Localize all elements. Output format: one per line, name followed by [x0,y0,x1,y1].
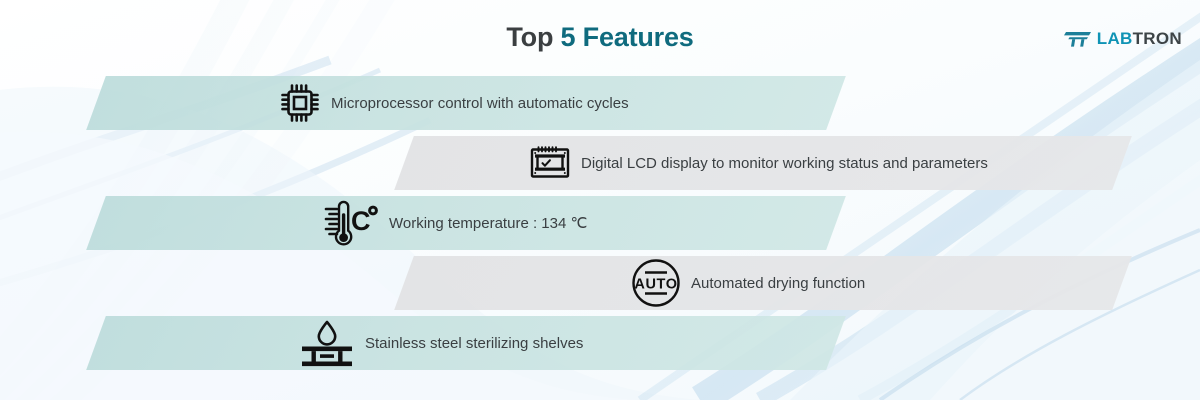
page-title-prefix: Top [506,22,560,52]
feature-label-3: Working temperature : 134 ℃ [389,216,587,231]
page-title: Top 5 Features [0,22,1200,53]
svg-text:AUTO: AUTO [634,277,677,293]
feature-content-2: Digital LCD display to monitor working s… [528,136,988,190]
thermometer-celsius-icon: C [318,197,380,249]
labtron-tt-mark-icon [1064,28,1092,48]
page-title-highlight: 5 Features [561,22,694,52]
lcd-display-icon [528,143,572,183]
infographic-canvas: Top 5 Features LABTRON [0,0,1200,400]
feature-label-2: Digital LCD display to monitor working s… [581,156,988,171]
steel-shelf-droplet-icon [298,317,356,369]
labtron-logo[interactable]: LABTRON [1064,28,1182,48]
feature-label-5: Stainless steel sterilizing shelves [365,336,583,351]
feature-content-5: Stainless steel sterilizing shelves [298,316,583,370]
feature-list: Microprocessor control with automatic cy… [0,0,1200,400]
feature-content-1: Microprocessor control with automatic cy… [278,76,629,130]
feature-content-3: C Working temperature : 134 ℃ [318,196,587,250]
feature-label-1: Microprocessor control with automatic cy… [331,96,629,111]
logo-text-tron: TRON [1133,29,1182,48]
logo-text-lab: LAB [1097,29,1133,48]
feature-label-4: Automated drying function [691,276,865,291]
microchip-icon [278,81,322,125]
feature-content-4: AUTO Automated drying function [630,256,865,310]
auto-circle-icon: AUTO [630,257,682,309]
svg-text:C: C [351,206,371,236]
